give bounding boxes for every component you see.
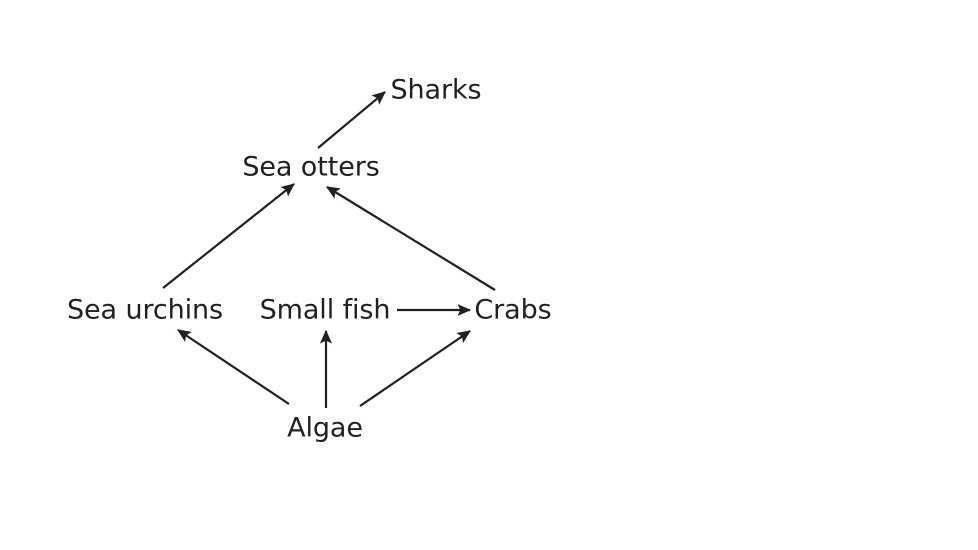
arrow-sea-urchins-to-sea-otters xyxy=(163,184,294,288)
arrow-algae-to-sea-urchins xyxy=(178,330,289,404)
node-label-sharks: Sharks xyxy=(391,77,482,104)
node-label-small-fish: Small fish xyxy=(260,297,391,324)
node-label-sea-otters: Sea otters xyxy=(242,154,379,181)
edges-group xyxy=(163,92,495,408)
node-label-algae: Algae xyxy=(287,415,363,442)
arrow-algae-to-crabs xyxy=(360,331,470,406)
arrow-crabs-to-sea-otters xyxy=(327,187,495,290)
food-web-diagram: SharksSea ottersSea urchinsSmall fishCra… xyxy=(0,0,978,550)
food-web-arrows-layer xyxy=(0,0,978,550)
node-label-crabs: Crabs xyxy=(474,297,551,324)
arrow-sea-otters-to-sharks xyxy=(318,92,385,148)
node-label-sea-urchins: Sea urchins xyxy=(67,297,223,324)
